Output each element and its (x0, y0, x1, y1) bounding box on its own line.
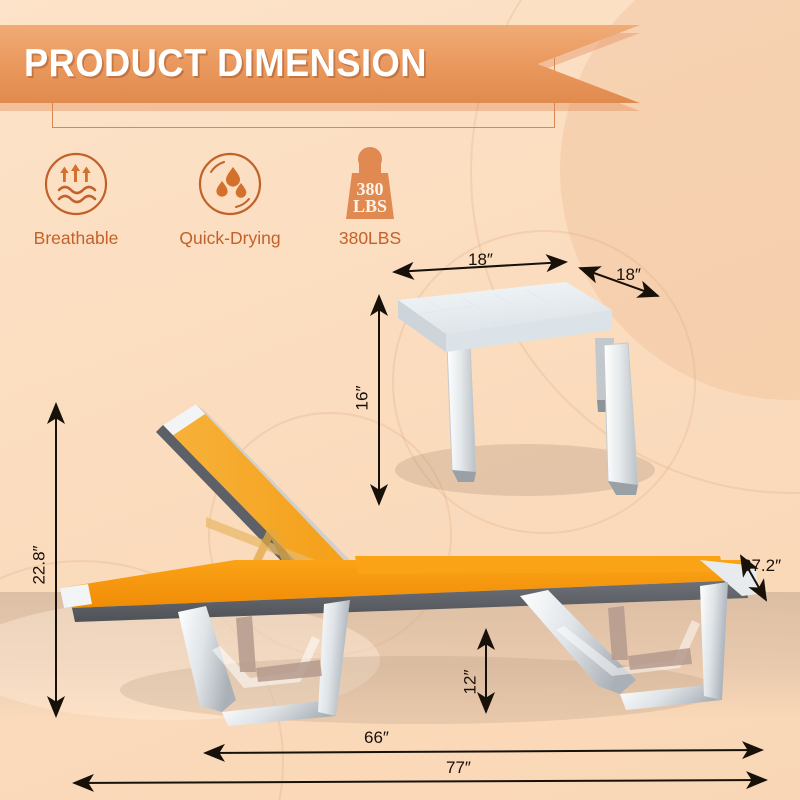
lounge-seat-length-label: 66″ (364, 728, 389, 748)
quick-drying-icon (165, 142, 295, 226)
feature-quick-drying: Quick-Drying (165, 142, 295, 249)
ground-shadow-band (0, 592, 800, 717)
page-title: PRODUCT DIMENSION (24, 25, 427, 103)
lounge-seat-height-label: 12″ (460, 670, 480, 695)
page-title-banner: PRODUCT DIMENSION (0, 25, 640, 103)
table-dimension-arrows (379, 262, 658, 504)
table-depth-label: 18″ (616, 265, 641, 285)
lounge-height-label: 22.8″ (30, 545, 50, 584)
feature-label: Quick-Drying (165, 228, 295, 249)
feature-weight-capacity: 380 LBS 380LBS (315, 142, 425, 249)
side-table-illustration (395, 282, 655, 496)
lounge-seat-length-arrow (205, 750, 762, 753)
table-width-label: 18″ (468, 250, 493, 270)
feature-breathable: Breathable (20, 142, 132, 249)
feature-label: Breathable (20, 228, 132, 249)
breathable-icon (20, 142, 132, 226)
background-ring-inner (392, 230, 696, 534)
table-height-label: 16″ (352, 386, 372, 411)
feature-label: 380LBS (315, 228, 425, 249)
lounge-overall-length-arrow (74, 780, 766, 783)
weight-badge-bottom: LBS (353, 196, 387, 216)
lounge-seat-width-label: 37.2″ (742, 556, 781, 576)
lounge-recline-bars (206, 517, 330, 594)
infographic-canvas: PRODUCT DIMENSION Breathable (0, 0, 800, 800)
lounge-overall-length-label: 77″ (446, 758, 471, 778)
lounge-backrest (156, 404, 372, 603)
weight-capacity-icon: 380 LBS (315, 142, 425, 226)
